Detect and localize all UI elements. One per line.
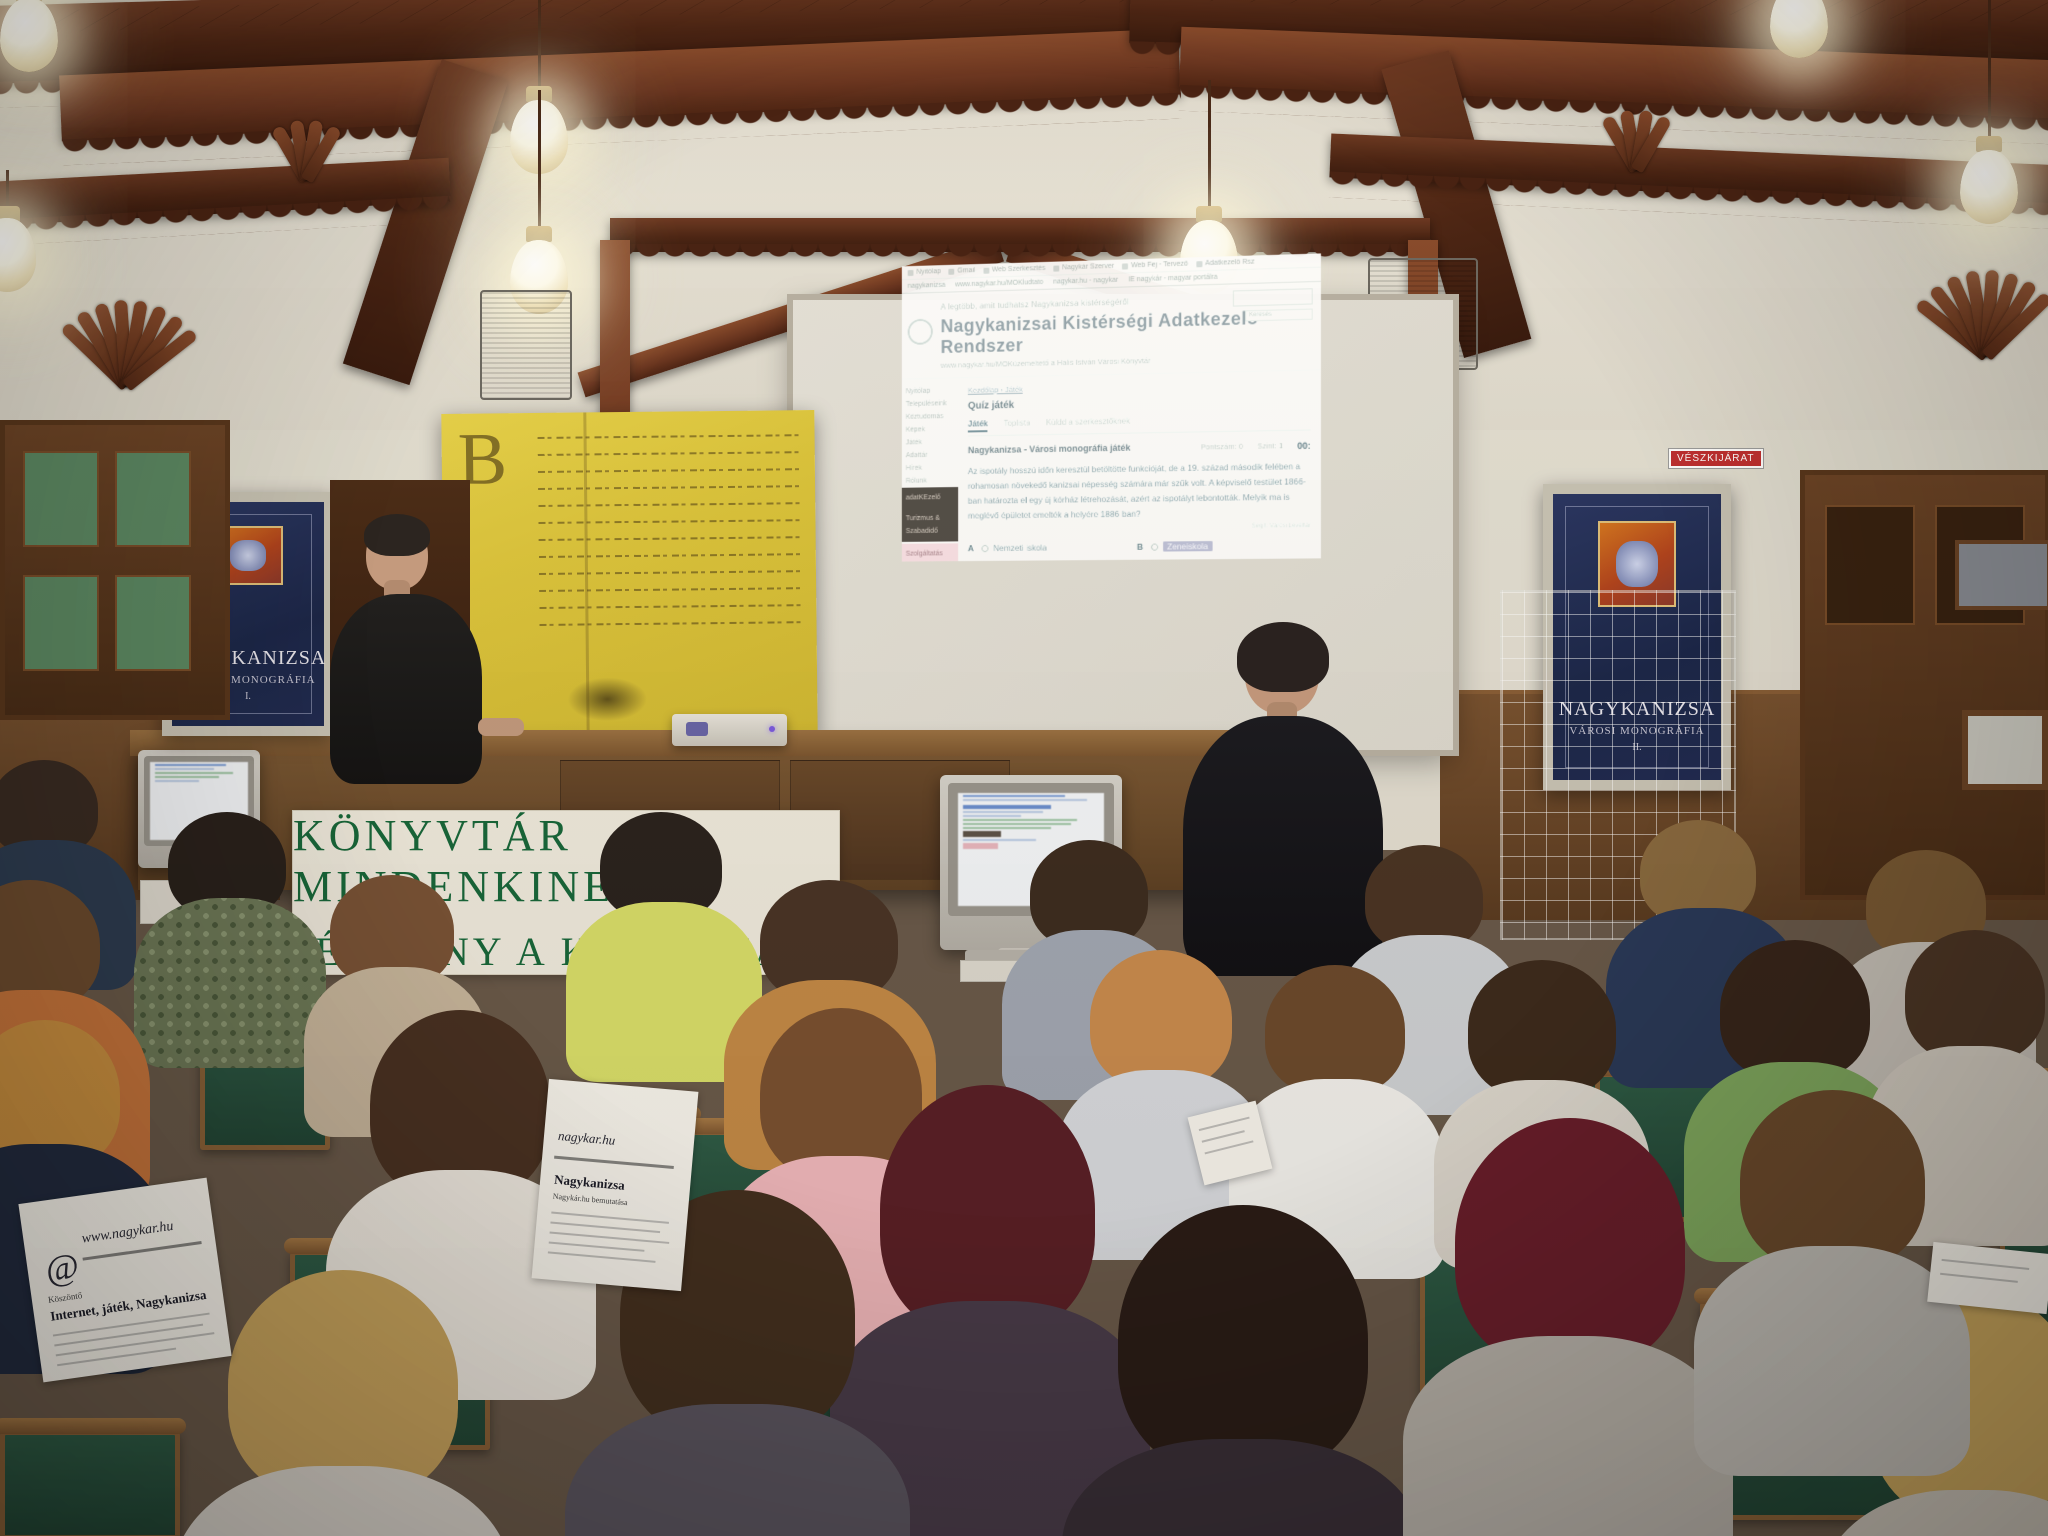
sidebar-item-jatek[interactable]: Játék xyxy=(906,436,955,450)
handout-url: nagykar.hu xyxy=(557,1128,616,1149)
browser-tab-2[interactable]: Web Szerkesztés xyxy=(983,265,1045,274)
handout-headline: Nagykanizsa xyxy=(554,1172,626,1194)
gable-beam-top xyxy=(610,218,1430,252)
projection-screen: Nyitólap Gmail Web Szerkesztés Nagykár S… xyxy=(793,300,1453,750)
tab-label: Web Szerkesztés xyxy=(992,265,1045,274)
lecture-hall-photo: Nyitólap Gmail Web Szerkesztés Nagykár S… xyxy=(0,0,2048,1536)
browser-tab-5[interactable]: Adatkezelő Rsz xyxy=(1196,259,1255,268)
quiz-option-a[interactable]: A Nemzeti iskola xyxy=(968,539,1137,556)
ink-blot xyxy=(567,677,647,722)
address-bar[interactable]: www.nagykar.hu/MOKludtato xyxy=(955,279,1043,289)
hall-door-left[interactable] xyxy=(0,420,230,720)
quiz-hint: Segít: Városi Levéltár xyxy=(968,523,1311,532)
tab-kuldd[interactable]: Küldd a szerkesztőknek xyxy=(1046,417,1130,432)
page-columns: Nyitólap Településeink Köztudomás Képek … xyxy=(902,369,1321,561)
tab-label: Gmail xyxy=(957,267,975,274)
exit-sign-label: VÉSZKIJÁRAT xyxy=(1671,451,1761,466)
handout-edge-right[interactable] xyxy=(1927,1242,2048,1314)
quiz-score-area: Pontszám: 0 Szint: 1 00: xyxy=(1201,441,1311,453)
at-icon: @ xyxy=(43,1245,82,1291)
sidebar-item-koztudomas[interactable]: Köztudomás xyxy=(906,410,955,424)
tab-label: Nagykár Szerver xyxy=(1062,263,1114,272)
projected-browser-window: Nyitólap Gmail Web Szerkesztés Nagykár S… xyxy=(902,253,1321,561)
tab-toplista[interactable]: Toplista xyxy=(1004,418,1031,431)
tab-jatek[interactable]: Játék xyxy=(968,419,988,432)
wall-speaker-left xyxy=(480,290,572,400)
torso xyxy=(1183,716,1383,976)
handout-kicker: Nagykár.hu bemutatása xyxy=(552,1192,628,1208)
favicon xyxy=(1122,263,1128,269)
hall-door-right[interactable] xyxy=(1800,470,2048,900)
favicon xyxy=(1053,265,1059,271)
browser-tab-4[interactable]: Web Fej - Tervező xyxy=(1122,261,1188,270)
breadcrumb[interactable]: Kezdőlap › Játék xyxy=(968,379,1311,395)
projector-lens-icon xyxy=(686,722,708,736)
window-pane-upper xyxy=(1955,540,2048,610)
quiz-title: Nagykanizsa - Városi monográfia játék xyxy=(968,443,1131,456)
emergency-exit-sign: VÉSZKIJÁRAT xyxy=(1668,448,1764,469)
handout-kicker: Köszöntő xyxy=(47,1290,83,1305)
sidebar-box-szolgaltatas[interactable]: Szolgáltatás xyxy=(902,543,958,561)
sidebar-item-rolunk[interactable]: Rólunk xyxy=(906,474,955,487)
sidebar-item-adattar[interactable]: Adattár xyxy=(906,449,955,463)
option-label: Nemzeti iskola xyxy=(993,543,1047,553)
quiz-option-b[interactable]: B Zeneiskola xyxy=(1137,537,1311,555)
hand xyxy=(478,718,524,736)
quiz-answer-options[interactable]: A Nemzeti iskola B Zeneiskola C xyxy=(968,537,1311,561)
quiz-tabs[interactable]: Játék Toplista Küldd a szerkesztőknek xyxy=(968,413,1311,436)
favicon xyxy=(908,269,914,275)
browser-tab-0[interactable]: Nyitólap xyxy=(908,268,941,276)
score-label: Pontszám: xyxy=(1201,442,1237,452)
radio-icon[interactable] xyxy=(982,545,989,552)
bookmark-0[interactable]: nagykanizsa xyxy=(908,282,946,290)
site-search-button[interactable]: Keresés xyxy=(1245,309,1313,322)
bookmark-2[interactable]: nagykar.hu - nagykar xyxy=(1053,277,1118,286)
radio-icon[interactable] xyxy=(1151,543,1158,550)
quiz-question-text: Az ispotály hosszú időn keresztül betölt… xyxy=(968,459,1311,524)
sidebar-item-kepek[interactable]: Képek xyxy=(906,423,955,437)
historic-charter-reproduction: B xyxy=(441,410,817,739)
quiz-header-row: Nagykanizsa - Városi monográfia játék Po… xyxy=(968,440,1311,457)
charter-text-lines xyxy=(538,434,805,648)
tab-label: Nyitólap xyxy=(916,268,941,276)
page-title: Quíz játék xyxy=(968,394,1311,412)
browser-tab-3[interactable]: Nagykár Szerver xyxy=(1053,263,1114,272)
sidebar-item-telepuleseink[interactable]: Településeink xyxy=(906,397,955,411)
tab-label: Web Fej - Tervező xyxy=(1131,261,1188,270)
site-sidebar[interactable]: Nyitólap Településeink Köztudomás Képek … xyxy=(902,378,958,561)
round-value: 1 xyxy=(1279,441,1283,450)
option-key: B xyxy=(1137,542,1146,552)
browser-tab-1[interactable]: Gmail xyxy=(949,267,976,275)
option-key: A xyxy=(968,543,977,553)
wall-niche-right xyxy=(1962,710,2048,790)
round-label: Szint: xyxy=(1257,441,1276,450)
favicon xyxy=(983,267,989,273)
hair xyxy=(364,514,430,556)
desk-projector xyxy=(672,714,787,746)
bookmark-3[interactable]: IE nagykár - magyar portálra xyxy=(1128,274,1217,284)
handout-nagykar-left[interactable]: @ www.nagykar.hu Köszöntő Internet, játé… xyxy=(18,1178,231,1383)
favicon xyxy=(1196,261,1202,267)
sidebar-item-hirek[interactable]: Hírek xyxy=(906,461,955,475)
sidebar-box-turizmus[interactable]: Turizmus & Szabadidő xyxy=(902,508,958,542)
handout-url: www.nagykar.hu xyxy=(81,1219,175,1248)
torso xyxy=(330,594,482,784)
score-value: 0 xyxy=(1239,442,1243,451)
chair[interactable] xyxy=(0,1430,180,1536)
page-main: Kezdőlap › Játék Quíz játék Játék Toplis… xyxy=(958,370,1321,561)
projector-led-icon xyxy=(769,726,775,732)
option-label-selected: Zeneiskola xyxy=(1163,541,1212,551)
handout-nagykar-right[interactable]: nagykar.hu Nagykanizsa Nagykár.hu bemuta… xyxy=(532,1079,699,1291)
quiz-timer: 00: xyxy=(1297,441,1310,451)
site-search-input[interactable] xyxy=(1233,288,1313,306)
tab-label: Adatkezelő Rsz xyxy=(1205,259,1254,268)
favicon xyxy=(949,268,955,274)
sidebar-box-adatkezelo[interactable]: adatKEzelő xyxy=(902,487,958,508)
hair xyxy=(1237,622,1329,692)
sidebar-item-nyitolap[interactable]: Nyitólap xyxy=(906,384,955,398)
page-body: Keresés A legtöbb, amit tudhatsz Nagykan… xyxy=(902,282,1321,562)
